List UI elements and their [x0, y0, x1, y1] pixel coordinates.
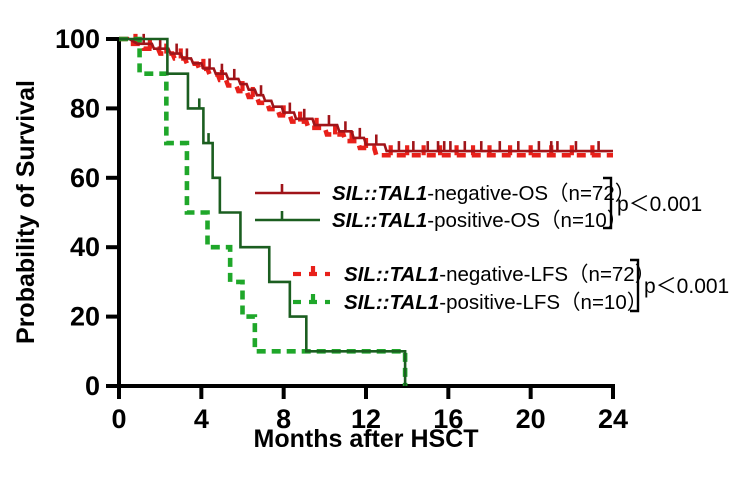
legend-label-os-negative: SIL::TAL1-negative-OS（n=72）	[332, 182, 635, 205]
legend-marker-lfs-negative	[293, 266, 330, 274]
curve-path	[119, 39, 613, 155]
chart-canvas: 020406080100 04812162024 Probability of …	[0, 0, 750, 483]
y-tick-label-60: 60	[70, 163, 100, 193]
legend-suffix-os-negative: -negative-OS（n=72）	[427, 182, 635, 205]
legend-group-lfs: SIL::TAL1-negative-LFS（n=72） SIL::TAL1-p…	[293, 260, 729, 314]
x-axis-title: Months after HSCT	[254, 425, 479, 453]
legend-pvalue-os: p＜0.001	[617, 193, 702, 216]
legend-marker-lfs-positive	[293, 294, 330, 302]
legend-suffix-os-positive: -positive-OS（n=10）	[427, 209, 627, 232]
legend-marker-os-negative	[255, 184, 320, 193]
legend-pvalue-lfs: p＜0.001	[644, 275, 729, 298]
legend-gene-os-negative: SIL::TAL1	[332, 182, 427, 205]
kaplan-meier-chart: 020406080100 04812162024 Probability of …	[0, 0, 750, 483]
y-axis-title: Probability of Survival	[12, 80, 40, 344]
legend-label-lfs-positive: SIL::TAL1-positive-LFS（n=10）	[344, 291, 647, 314]
curve-path	[119, 39, 613, 151]
series-negative-lfs	[119, 34, 613, 155]
y-tick-label-80: 80	[70, 93, 100, 123]
legend-group-os: SIL::TAL1-negative-OS（n=72） SIL::TAL1-po…	[255, 178, 702, 232]
y-tick-label-40: 40	[70, 232, 100, 262]
x-tick-label-24: 24	[598, 404, 628, 434]
legend-marker-os-positive	[255, 211, 320, 220]
series-negative-os	[119, 34, 613, 151]
legend-suffix-lfs-negative: -negative-LFS（n=72）	[439, 263, 655, 286]
y-tick-label-100: 100	[55, 24, 100, 54]
x-tick-label-20: 20	[516, 404, 546, 434]
y-tick-labels: 020406080100	[55, 24, 100, 401]
x-tick-label-0: 0	[111, 404, 126, 434]
legend-gene-lfs-positive: SIL::TAL1	[344, 291, 439, 314]
legend-gene-lfs-negative: SIL::TAL1	[344, 263, 439, 286]
y-tick-label-20: 20	[70, 302, 100, 332]
legend-gene-os-positive: SIL::TAL1	[332, 209, 427, 232]
legend-label-os-positive: SIL::TAL1-positive-OS（n=10）	[332, 209, 627, 232]
legend-label-lfs-negative: SIL::TAL1-negative-LFS（n=72）	[344, 263, 655, 286]
y-tick-label-0: 0	[85, 371, 100, 401]
x-tick-label-4: 4	[194, 404, 209, 434]
legend-suffix-lfs-positive: -positive-LFS（n=10）	[439, 291, 647, 314]
